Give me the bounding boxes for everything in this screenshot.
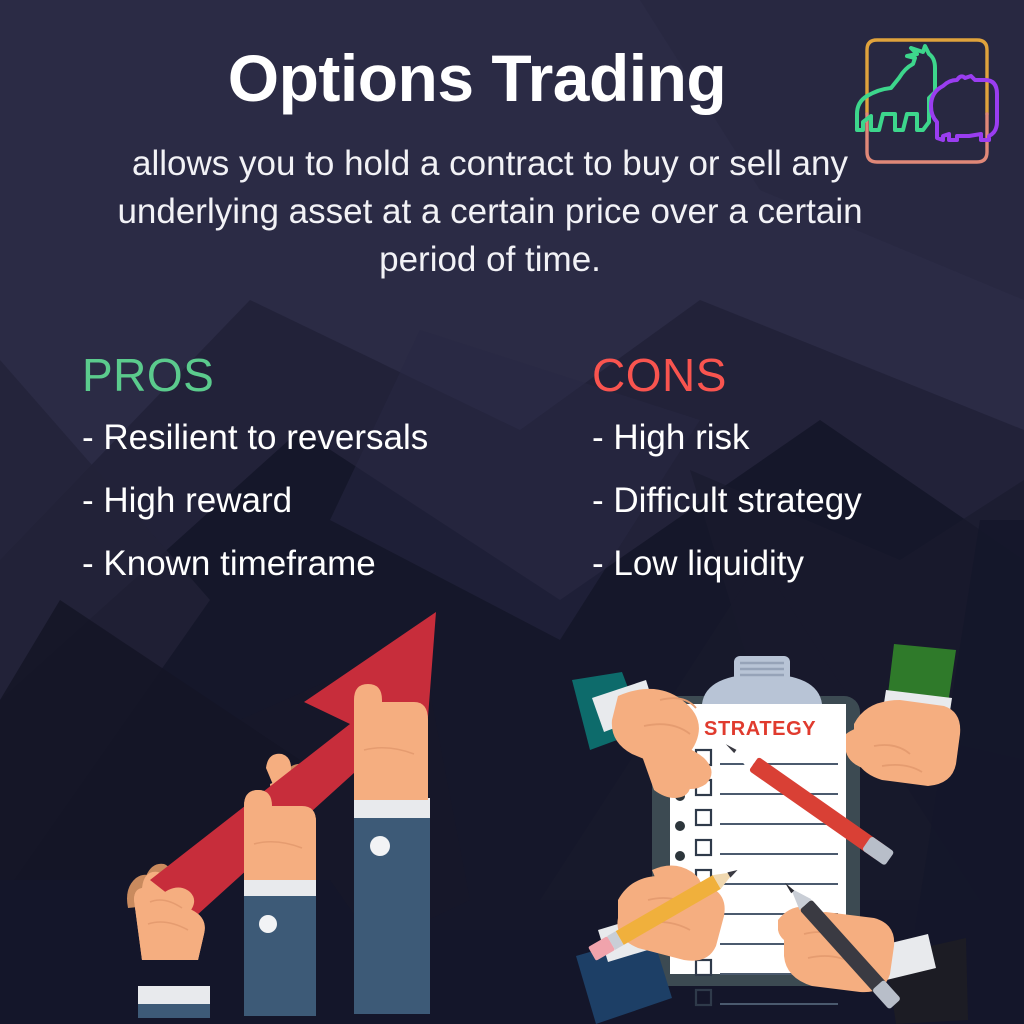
cons-heading: CONS bbox=[592, 352, 1002, 398]
list-item: - Known timeframe bbox=[82, 546, 552, 581]
pros-heading: PROS bbox=[82, 352, 552, 398]
list-item: - High risk bbox=[592, 420, 1002, 455]
bull-and-bear-logo-icon bbox=[845, 18, 1010, 183]
rising-arrow-illustration bbox=[118, 598, 488, 1018]
list-item: - Resilient to reversals bbox=[82, 420, 552, 455]
cons-column: CONS - High risk - Difficult strategy - … bbox=[592, 352, 1002, 609]
pros-list: - Resilient to reversals - High reward -… bbox=[82, 420, 552, 581]
strategy-clipboard-illustration: STRATEGY bbox=[556, 638, 968, 1024]
hand-with-dark-pen bbox=[778, 877, 968, 1024]
bull-and-bear-logo bbox=[845, 18, 1010, 183]
list-item: - Low liquidity bbox=[592, 546, 1002, 581]
list-item: - High reward bbox=[82, 483, 552, 518]
rising-arrow-with-hands-icon bbox=[118, 598, 488, 1018]
page-subtitle: allows you to hold a contract to buy or … bbox=[110, 140, 870, 284]
cons-list: - High risk - Difficult strategy - Low l… bbox=[592, 420, 1002, 581]
list-item: - Difficult strategy bbox=[592, 483, 1002, 518]
clipboard-title: STRATEGY bbox=[704, 718, 816, 740]
strategy-clipboard-with-hands-icon: STRATEGY bbox=[556, 638, 968, 1024]
pros-column: PROS - Resilient to reversals - High rew… bbox=[82, 352, 552, 609]
infographic-canvas: Options Trading allows you to hold a con… bbox=[0, 0, 1024, 1024]
hand-pointing-left bbox=[572, 672, 712, 798]
